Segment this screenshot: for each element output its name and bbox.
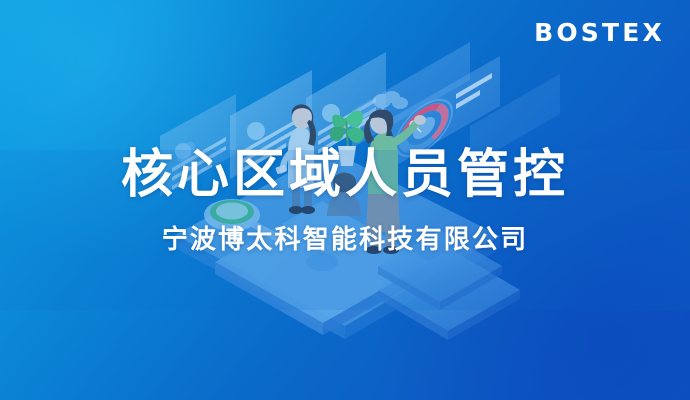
page-subtitle: 宁波博太科智能科技有限公司 — [0, 225, 690, 254]
banner-canvas: BOSTEX 核心区域人员管控 宁波博太科智能科技有限公司 — [0, 0, 690, 400]
headline-block: 核心区域人员管控 宁波博太科智能科技有限公司 — [0, 148, 690, 253]
cloud-icon — [373, 91, 408, 109]
id-card-panel — [306, 52, 386, 160]
brand-logo[interactable]: BOSTEX — [534, 20, 665, 45]
magnifier-small-icon — [410, 121, 421, 132]
isometric-slab-a — [378, 249, 520, 340]
page-title: 核心区域人员管控 — [0, 148, 690, 203]
panel-text-bars — [456, 73, 492, 109]
